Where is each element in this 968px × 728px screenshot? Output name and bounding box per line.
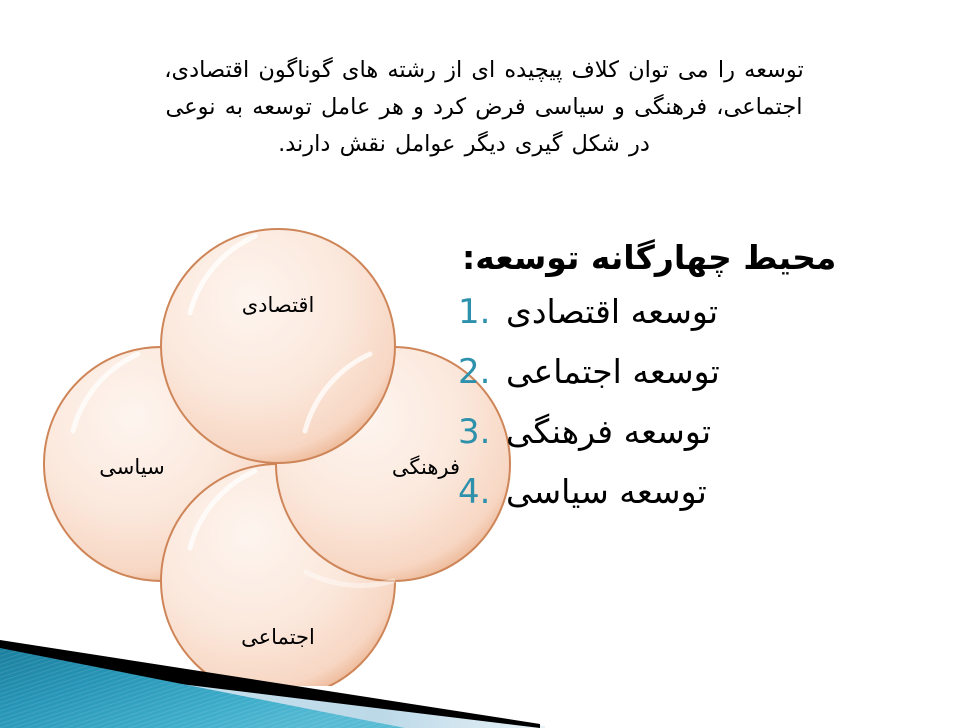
list-item-label: توسعه فرهنگی: [506, 412, 725, 451]
list-item-label: توسعه سیاسی: [506, 472, 721, 511]
development-list: 1. توسعه اقتصادی 2. توسعه اجتماعی 3. توس…: [450, 292, 950, 528]
intro-paragraph: توسعه را می توان کلاف پیچیده ای از رشته …: [52, 52, 916, 163]
page-title: محیط چهارگانه توسعه:: [450, 236, 950, 280]
list-item[interactable]: 2. توسعه اجتماعی: [450, 352, 950, 408]
list-item[interactable]: 4. توسعه سیاسی: [450, 472, 950, 528]
list-item[interactable]: 1. توسعه اقتصادی: [450, 292, 950, 348]
list-item-number: 4.: [450, 472, 506, 512]
list-item-number: 1.: [450, 292, 506, 332]
slide-canvas: توسعه را می توان کلاف پیچیده ای از رشته …: [0, 0, 968, 728]
list-item-label: توسعه اجتماعی: [506, 352, 734, 391]
list-item-label: توسعه اقتصادی: [506, 292, 732, 331]
venn-label-bottom: اجتماعی: [241, 625, 315, 649]
intro-line-2: اجتماعی، فرهنگی و سیاسی فرض کرد و هر عام…: [52, 89, 916, 126]
intro-line-1: توسعه را می توان کلاف پیچیده ای از رشته …: [52, 52, 916, 89]
venn-label-left: سیاسی: [99, 455, 164, 479]
development-list-block: محیط چهارگانه توسعه: 1. توسعه اقتصادی 2.…: [450, 236, 950, 532]
list-item-number: 2.: [450, 352, 506, 392]
venn-label-top: اقتصادی: [242, 293, 315, 317]
list-item-number: 3.: [450, 412, 506, 452]
venn-circle-top: [161, 229, 395, 463]
intro-line-3: در شکل گیری دیگر عوامل نقش دارند.: [52, 126, 916, 163]
list-item[interactable]: 3. توسعه فرهنگی: [450, 412, 950, 468]
